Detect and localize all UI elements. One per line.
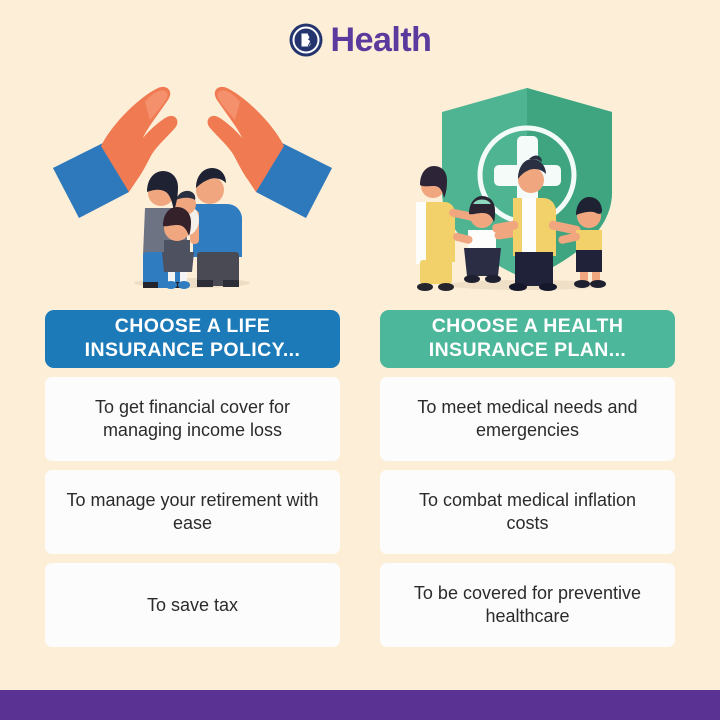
brand-header: Health [0,0,720,80]
benefit-card: To combat medical inflation costs [380,470,675,554]
shield-family-illustration [380,80,675,295]
benefit-card-text: To get financial cover for managing inco… [61,396,324,441]
footer-bar [0,690,720,720]
benefit-card-text: To save tax [147,594,238,617]
brand-wordmark: Health [331,23,432,57]
benefit-card-text: To be covered for preventive healthcare [396,582,659,627]
banner-health-insurance: CHOOSE A HEALTH INSURANCE PLAN... [380,310,675,368]
bajaj-b-circle-icon [289,23,323,57]
benefit-card-text: To manage your retirement with ease [61,489,324,534]
banner-life-insurance: CHOOSE A LIFE INSURANCE POLICY... [45,310,340,368]
benefit-card: To get financial cover for managing inco… [45,377,340,461]
column-health-insurance: CHOOSE A HEALTH INSURANCE PLAN... To mee… [380,80,675,647]
hands-protecting-family-illustration [45,80,340,295]
column-life-insurance: CHOOSE A LIFE INSURANCE POLICY... To get… [45,80,340,647]
benefit-card: To manage your retirement with ease [45,470,340,554]
benefit-card: To save tax [45,563,340,647]
benefit-card-text: To meet medical needs and emergencies [396,396,659,441]
benefit-card: To meet medical needs and emergencies [380,377,675,461]
benefit-card-text: To combat medical inflation costs [396,489,659,534]
benefit-card: To be covered for preventive healthcare [380,563,675,647]
